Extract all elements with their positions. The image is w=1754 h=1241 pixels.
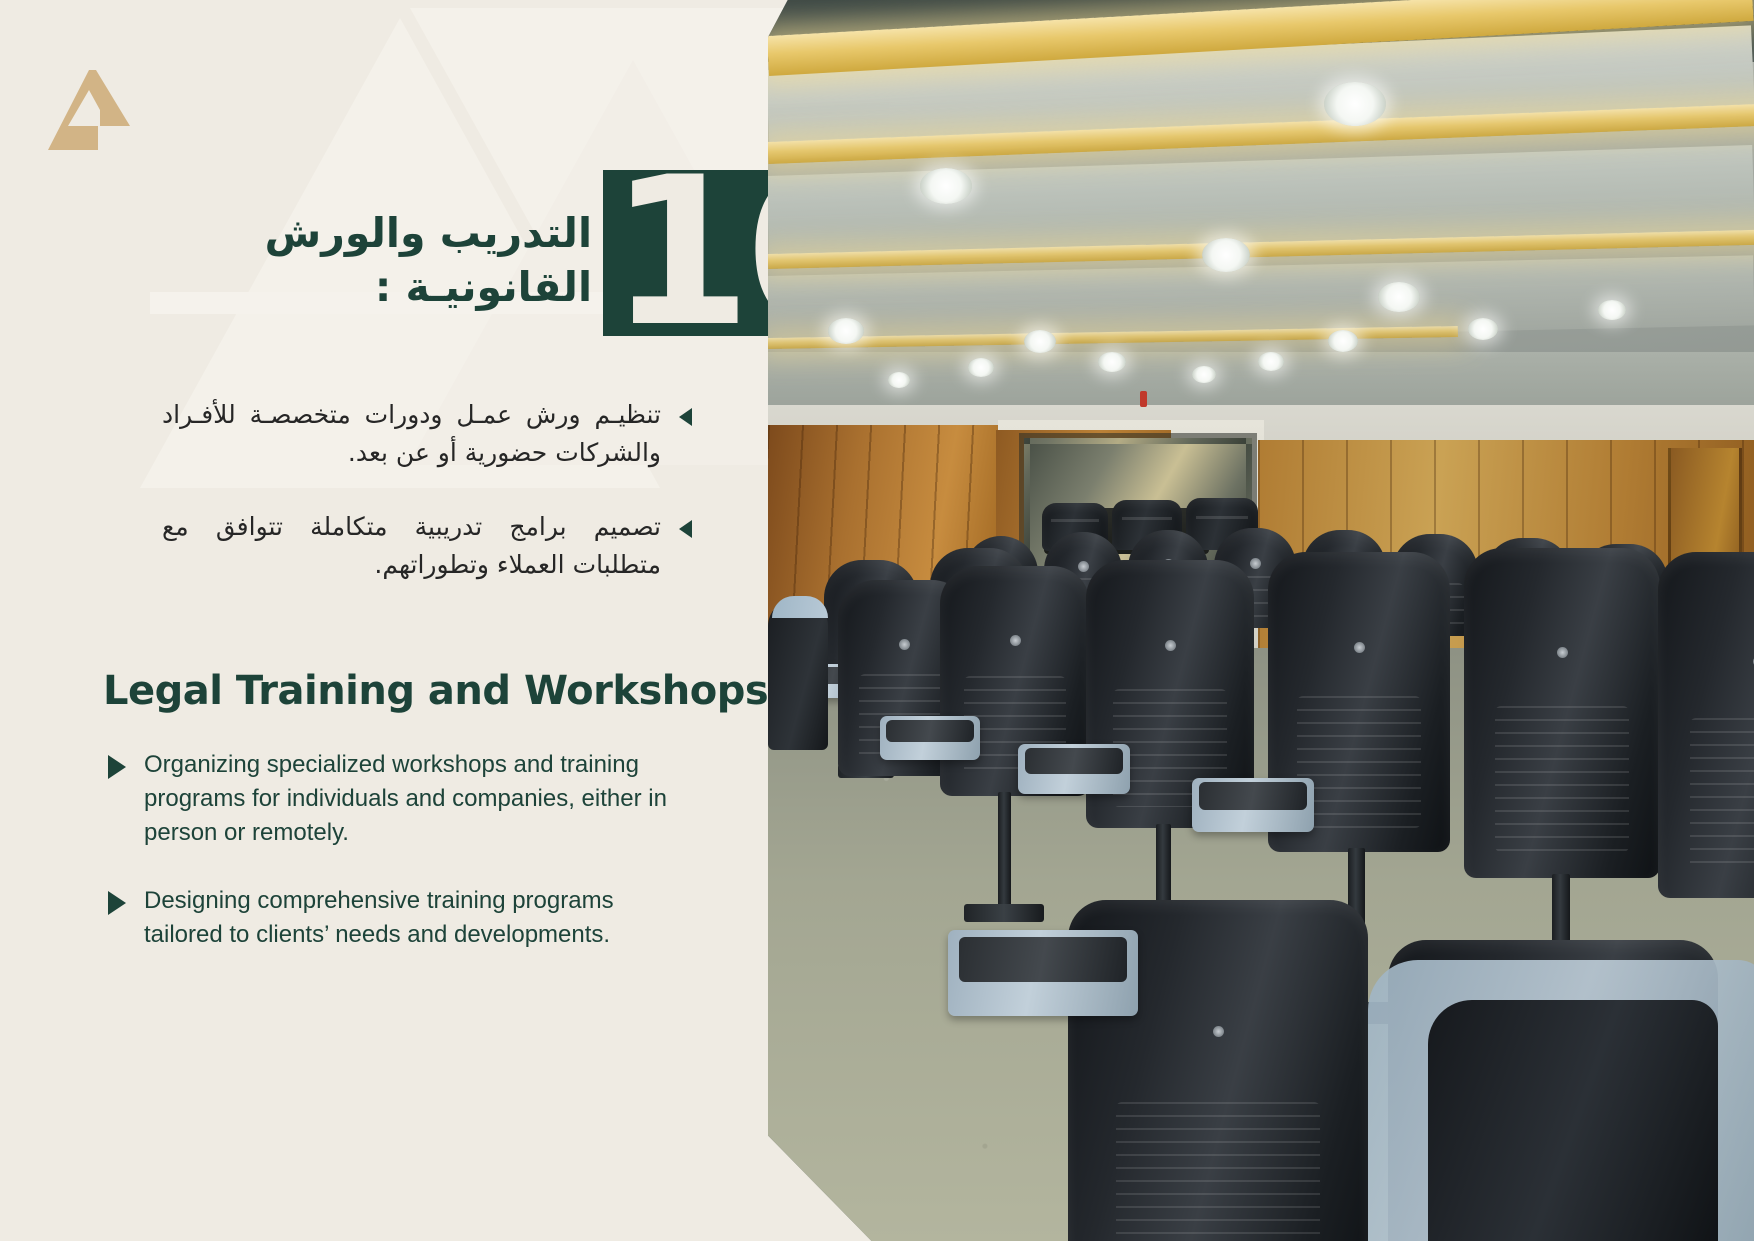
triangle-bullet-icon: [108, 891, 126, 915]
english-bullet-text: Organizing specialized workshops and tra…: [144, 748, 678, 850]
english-bullet-text: Designing comprehensive training program…: [144, 884, 678, 952]
english-bullet-item: Designing comprehensive training program…: [108, 884, 678, 952]
arabic-bullet-item: تنظيـم ورش عمـل ودورات متخصصـة للأفـراد …: [162, 396, 692, 472]
arabic-bullet-item: تصميم برامج تدريبية متكاملة تتوافق مع مت…: [162, 508, 692, 584]
triangle-bullet-icon: [679, 408, 692, 426]
english-bullet-item: Organizing specialized workshops and tra…: [108, 748, 678, 850]
english-page-title: Legal Training and Workshops: [103, 668, 768, 714]
triangle-bullet-icon: [108, 755, 126, 779]
presentation-slide: 10 التدريب والورش القانونيـة : تنظيـم ور…: [0, 0, 1754, 1241]
arabic-bullet-text: تنظيـم ورش عمـل ودورات متخصصـة للأفـراد …: [162, 396, 661, 472]
arabic-bullet-text: تصميم برامج تدريبية متكاملة تتوافق مع مت…: [162, 508, 661, 584]
auditorium-photo: [768, 0, 1754, 1241]
slide-number: 10: [609, 170, 778, 336]
arabic-title-line-2: القانونيـة :: [162, 260, 592, 314]
triangle-bullet-icon: [679, 520, 692, 538]
arabic-title-line-1: التدريب والورش: [162, 206, 592, 260]
arabic-page-title: التدريب والورش القانونيـة :: [162, 206, 592, 314]
triangle-a-logo: [48, 66, 130, 154]
slide-number-badge: 10: [603, 170, 778, 336]
english-bullet-list: Organizing specialized workshops and tra…: [108, 748, 678, 986]
arabic-bullet-list: تنظيـم ورش عمـل ودورات متخصصـة للأفـراد …: [162, 396, 692, 620]
auditorium-photo-panel: [768, 0, 1754, 1241]
